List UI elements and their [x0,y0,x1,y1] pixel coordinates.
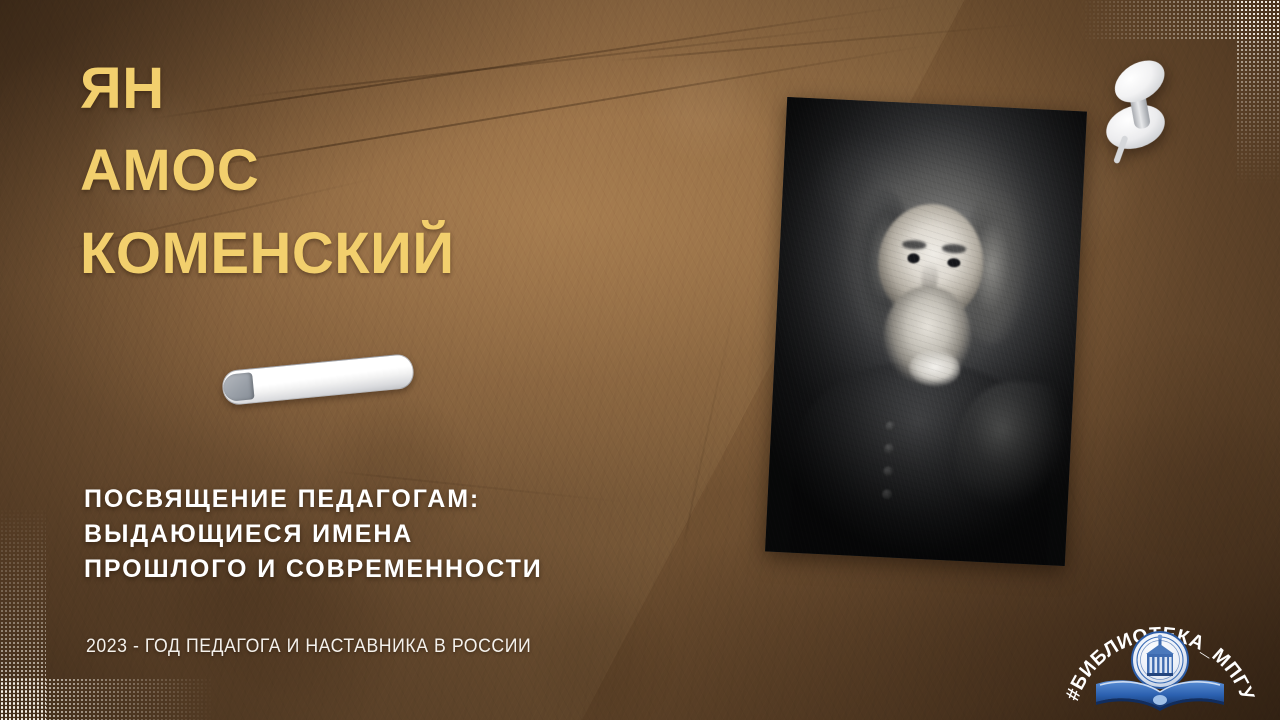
title-line-3: КОМЕНСКИЙ [80,213,700,295]
subtitle-line-3: ПРОШЛОГО И СОВРЕМЕННОСТИ [84,552,724,587]
chalk-tip [222,372,254,402]
subtitle: ПОСВЯЩЕНИЕ ПЕДАГОГАМ: ВЫДАЮЩИЕСЯ ИМЕНА П… [84,482,724,587]
subtitle-line-2: ВЫДАЮЩИЕСЯ ИМЕНА [84,517,724,552]
mpgu-seal-emblem [1132,632,1188,688]
year-caption: 2023 - ГОД ПЕДАГОГА И НАСТАВНИКА В РОССИ… [86,636,531,658]
title-line-2: АМОС [80,130,700,212]
poster-slide: ЯН АМОС КОМЕНСКИЙ [0,0,1280,720]
title-line-1: ЯН [80,48,700,130]
page-title: ЯН АМОС КОМЕНСКИЙ [80,48,700,295]
portrait-canvas [765,97,1087,566]
portrait-vignette [765,97,1087,566]
subtitle-line-1: ПОСВЯЩЕНИЕ ПЕДАГОГАМ: [84,482,724,517]
library-logo: #БИБЛИОТЕКА_МПГУ [1062,604,1258,716]
portrait-photo [765,97,1087,566]
